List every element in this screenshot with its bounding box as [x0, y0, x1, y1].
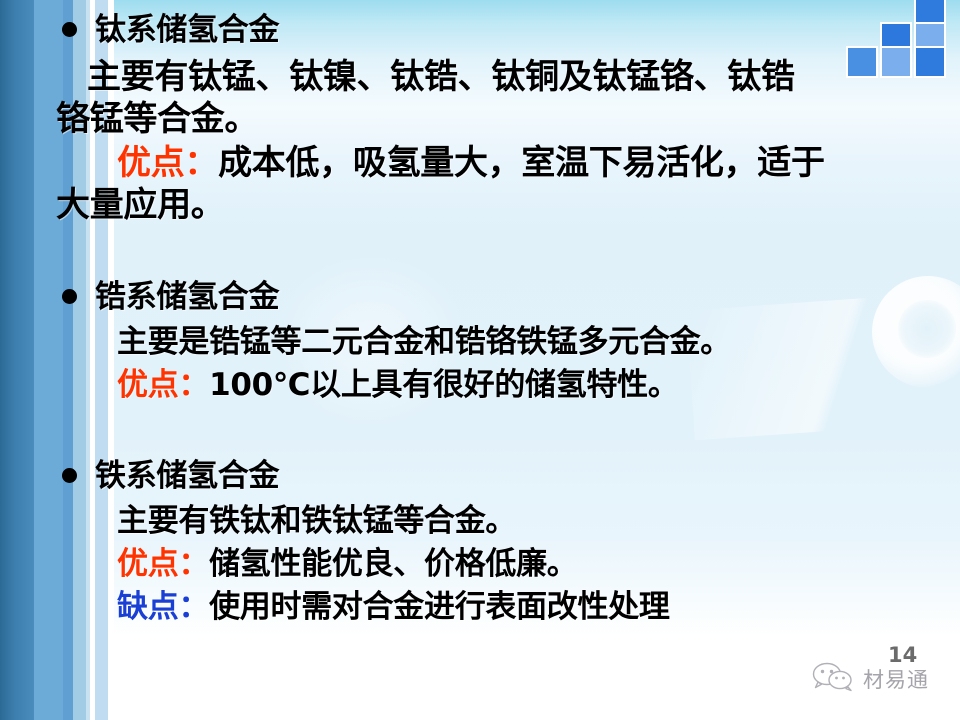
note-label-advantage: 优点	[117, 546, 178, 582]
note-label-advantage: 优点	[117, 367, 178, 403]
bullet-dot-icon	[62, 289, 77, 304]
note-row: 缺点：使用时需对合金进行表面改性处理	[117, 591, 960, 624]
note-row: 优点：成本低，吸氢量大，室温下易活化，适于	[117, 145, 960, 181]
note-text: 使用时需对合金进行表面改性处理	[209, 589, 670, 625]
note-colon: ：	[178, 589, 209, 625]
section-heading-row: 锆系储氢合金	[62, 281, 960, 314]
note-row: 优点：100℃以上具有很好的储氢特性。	[117, 369, 960, 402]
note-label-disadvantage: 缺点	[117, 589, 178, 625]
watermark-text: 材易通	[863, 664, 929, 694]
note-colon: ：	[184, 143, 218, 183]
note-row: 优点：储氢性能优良、价格低廉。	[117, 548, 960, 581]
wechat-icon	[812, 662, 856, 696]
note-label-advantage: 优点	[117, 143, 184, 183]
section-iron: 铁系储氢合金 主要有铁钛和铁钛锰等合金。 优点：储氢性能优良、价格低廉。 缺点：…	[62, 460, 960, 623]
section-body-line: 铬锰等合金。	[56, 101, 960, 137]
section-body-line: 主要有钛锰、钛镍、钛锆、钛铜及钛锰铬、钛锆	[87, 59, 960, 95]
section-body-line: 主要是锆锰等二元合金和锆铬铁锰多元合金。	[117, 326, 960, 359]
bullet-dot-icon	[62, 22, 77, 37]
watermark: 材易通	[812, 662, 929, 696]
note-text: 100℃以上具有很好的储氢特性。	[209, 367, 678, 403]
section-heading-row: 铁系储氢合金	[62, 460, 960, 493]
section-zirconium: 锆系储氢合金 主要是锆锰等二元合金和锆铬铁锰多元合金。 优点：100℃以上具有很…	[62, 281, 960, 402]
section-heading: 铁系储氢合金	[95, 460, 279, 493]
note-text: 储氢性能优良、价格低廉。	[209, 546, 577, 582]
note-text: 成本低，吸氢量大，室温下易活化，适于	[218, 143, 825, 183]
note-colon: ：	[178, 546, 209, 582]
slide-content: 钛系储氢合金 主要有钛锰、钛镍、钛锆、钛铜及钛锰铬、钛锆 铬锰等合金。 优点：成…	[0, 0, 960, 720]
slide-canvas: 钛系储氢合金 主要有钛锰、钛镍、钛锆、钛铜及钛锰铬、钛锆 铬锰等合金。 优点：成…	[0, 0, 960, 720]
note-text-continued: 大量应用。	[56, 187, 960, 223]
note-colon: ：	[178, 367, 209, 403]
section-heading: 钛系储氢合金	[95, 14, 279, 47]
section-heading-row: 钛系储氢合金	[62, 14, 960, 47]
bullet-dot-icon	[62, 468, 77, 483]
section-titanium: 钛系储氢合金 主要有钛锰、钛镍、钛锆、钛铜及钛锰铬、钛锆 铬锰等合金。 优点：成…	[62, 14, 960, 223]
section-body-line: 主要有铁钛和铁钛锰等合金。	[117, 505, 960, 538]
section-heading: 锆系储氢合金	[95, 281, 279, 314]
